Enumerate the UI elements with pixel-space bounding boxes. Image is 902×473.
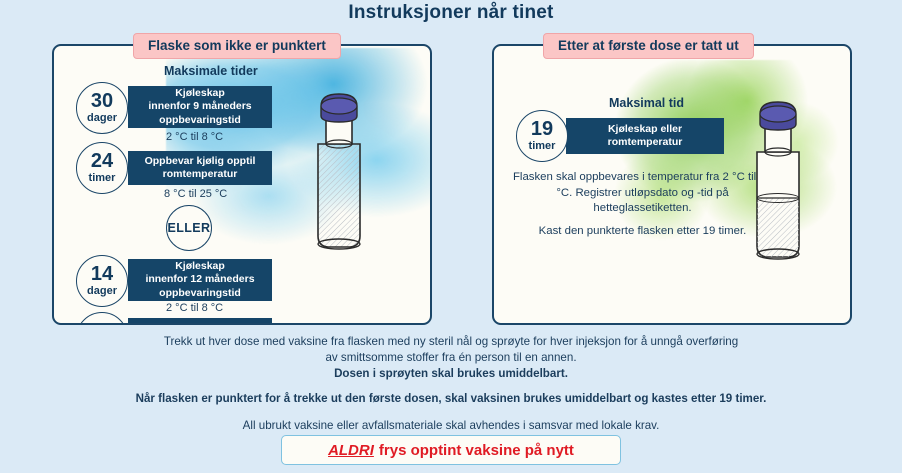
- page-title: Instruksjoner når tinet: [0, 2, 902, 24]
- temperature-24-hours-a: 8 °C til 25 °C: [164, 188, 227, 200]
- storage-label-14-days: Kjøleskap innenfor 12 måneders oppbevari…: [128, 259, 272, 301]
- badge-30-dager: 30 dager: [76, 82, 128, 134]
- temperature-30-days: 2 °C til 8 °C: [166, 131, 223, 143]
- eller-label: ELLER: [168, 222, 211, 235]
- storage-label-30-days: Kjøleskap innenfor 9 måneders oppbevarin…: [128, 86, 272, 128]
- storage-label-24-hours-b: Oppbevar kjølig opptil romtemperatur: [128, 318, 272, 325]
- infographic-page: Instruksjoner når tinet Maksimale tider …: [0, 0, 902, 473]
- badge-unit: dager: [87, 285, 117, 297]
- storage-label-text: Kjøleskap eller romtemperatur: [608, 123, 683, 150]
- note-3: All ubrukt vaksine eller avfallsmaterial…: [0, 418, 902, 434]
- note-2-bold: Når flasken er punktert for å trekke ut …: [0, 391, 902, 407]
- panel-after-first-dose: Maksimal tid Kjøleskap eller romtemperat…: [492, 44, 852, 325]
- badge-number: 24: [91, 151, 113, 171]
- badge-unit: timer: [529, 140, 556, 152]
- right-panel-caption: Maksimal tid: [609, 96, 684, 110]
- note-1-line-2: av smittsomme stoffer fra én person til …: [0, 350, 902, 366]
- left-panel-caption: Maksimale tider: [164, 64, 258, 78]
- header-pill-after-first-dose: Etter at første dose er tatt ut: [543, 33, 754, 59]
- badge-14-dager: 14 dager: [76, 255, 128, 307]
- never-refreeze-banner: ALDRI frys opptint vaksine på nytt: [281, 435, 621, 465]
- temperature-14-days: 2 °C til 8 °C: [166, 302, 223, 314]
- header-pill-unpunctured: Flaske som ikke er punktert: [133, 33, 341, 59]
- punctured-vial-illustration: [730, 94, 826, 266]
- badge-number: 19: [531, 119, 553, 139]
- badge-number: 14: [91, 264, 113, 284]
- badge-number: 24: [91, 321, 113, 325]
- storage-label-text: Kjøleskap innenfor 12 måneders oppbevari…: [145, 260, 254, 300]
- badge-number: 30: [91, 91, 113, 111]
- aldri-emphasis: ALDRI: [328, 442, 374, 459]
- badge-24-timer-b: 24 timer: [76, 312, 128, 325]
- note-1-bold: Dosen i sprøyten skal brukes umiddelbart…: [0, 366, 902, 382]
- badge-24-timer-a: 24 timer: [76, 142, 128, 194]
- storage-label-text: Oppbevar kjølig opptil romtemperatur: [145, 155, 256, 182]
- storage-label-text: Kjøleskap innenfor 9 måneders oppbevarin…: [148, 87, 251, 127]
- banner-rest-text: frys opptint vaksine på nytt: [379, 442, 574, 459]
- storage-label-24-hours-a: Oppbevar kjølig opptil romtemperatur: [128, 151, 272, 185]
- unpunctured-vial-illustration: [292, 86, 384, 256]
- storage-label-text: Oppbevar kjølig opptil romtemperatur: [145, 322, 256, 325]
- storage-label-19-hours: Kjøleskap eller romtemperatur: [566, 118, 724, 154]
- note-1-line-1: Trekk ut hver dose med vaksine fra flask…: [0, 334, 902, 350]
- panel-unpunctured-bottle: Maksimale tider Kjøleskap innenfor 9 mån…: [52, 44, 432, 325]
- badge-unit: dager: [87, 112, 117, 124]
- badge-19-timer: 19 timer: [516, 110, 568, 162]
- badge-unit: timer: [89, 172, 116, 184]
- badge-eller: ELLER: [166, 205, 212, 251]
